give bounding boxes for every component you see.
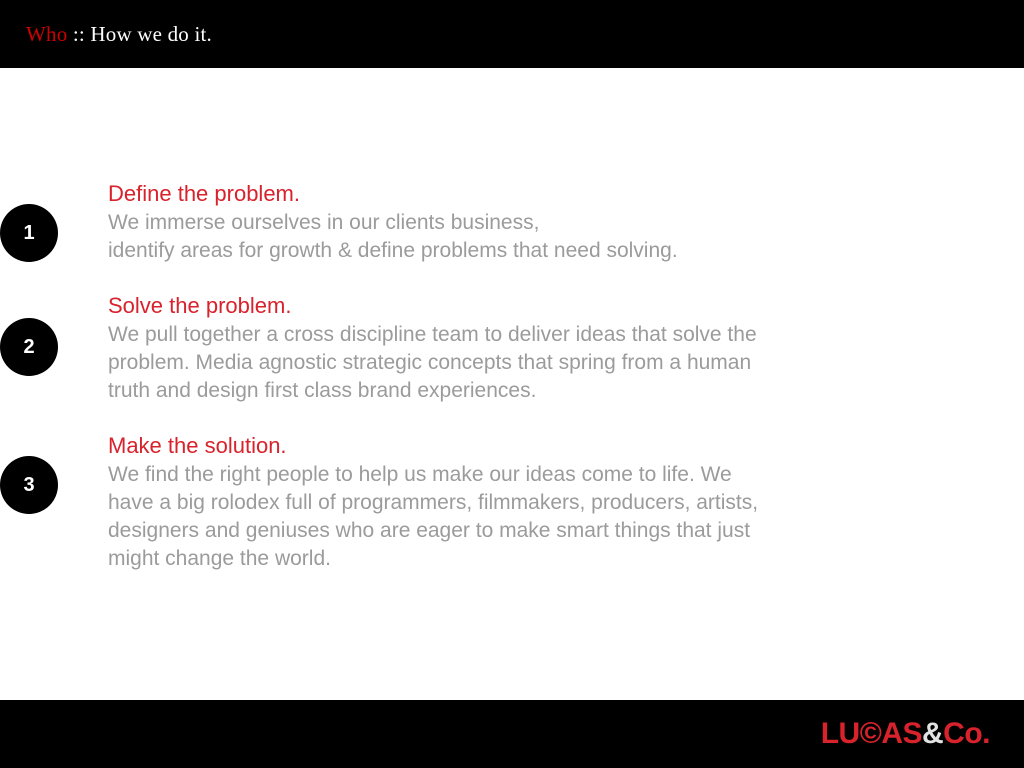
step-badge-wrap: 2 — [0, 292, 108, 376]
copyright-icon: © — [860, 717, 882, 750]
step-body: Solve the problem. We pull together a cr… — [108, 292, 868, 405]
page-title-rest: :: How we do it. — [73, 22, 212, 46]
step-text-line: We find the right people to help us make… — [108, 461, 868, 489]
step-heading: Define the problem. — [108, 180, 868, 208]
step-text-line: problem. Media agnostic strategic concep… — [108, 349, 868, 377]
brand-logo: LU©AS&Co. — [821, 719, 990, 749]
page-title: Who :: How we do it. — [26, 24, 212, 45]
page-title-accent: Who — [26, 22, 67, 46]
step-badge-wrap: 1 — [0, 180, 108, 262]
step-heading: Make the solution. — [108, 432, 868, 460]
step-text-line: We immerse ourselves in our clients busi… — [108, 209, 868, 237]
step-text-line: We pull together a cross discipline team… — [108, 321, 868, 349]
step-body: Make the solution. We find the right peo… — [108, 432, 868, 573]
logo-part-co: Co. — [943, 717, 990, 750]
step-number-badge: 3 — [0, 456, 58, 514]
step-number-badge: 2 — [0, 318, 58, 376]
step-number-badge: 1 — [0, 204, 58, 262]
step-text: We immerse ourselves in our clients busi… — [108, 209, 868, 265]
step-body: Define the problem. We immerse ourselves… — [108, 180, 868, 265]
step-text: We find the right people to help us make… — [108, 461, 868, 573]
step-item: 2 Solve the problem. We pull together a … — [0, 292, 1024, 405]
step-text-line: have a big rolodex full of programmers, … — [108, 489, 868, 517]
step-item: 3 Make the solution. We find the right p… — [0, 432, 1024, 573]
step-text-line: designers and geniuses who are eager to … — [108, 517, 868, 545]
step-text-line: truth and design first class brand exper… — [108, 377, 868, 405]
step-text-line: might change the world. — [108, 545, 868, 573]
step-heading: Solve the problem. — [108, 292, 868, 320]
header-bar: Who :: How we do it. — [0, 0, 1024, 68]
logo-part-lu: LU — [821, 717, 860, 750]
step-badge-wrap: 3 — [0, 432, 108, 514]
step-text: We pull together a cross discipline team… — [108, 321, 868, 405]
slide: Who :: How we do it. 1 Define the proble… — [0, 0, 1024, 768]
footer-bar: LU©AS&Co. — [0, 700, 1024, 768]
step-text-line: identify areas for growth & define probl… — [108, 237, 868, 265]
logo-part-ampersand: & — [922, 717, 943, 750]
logo-part-as: AS — [881, 717, 922, 750]
step-item: 1 Define the problem. We immerse ourselv… — [0, 180, 1024, 265]
